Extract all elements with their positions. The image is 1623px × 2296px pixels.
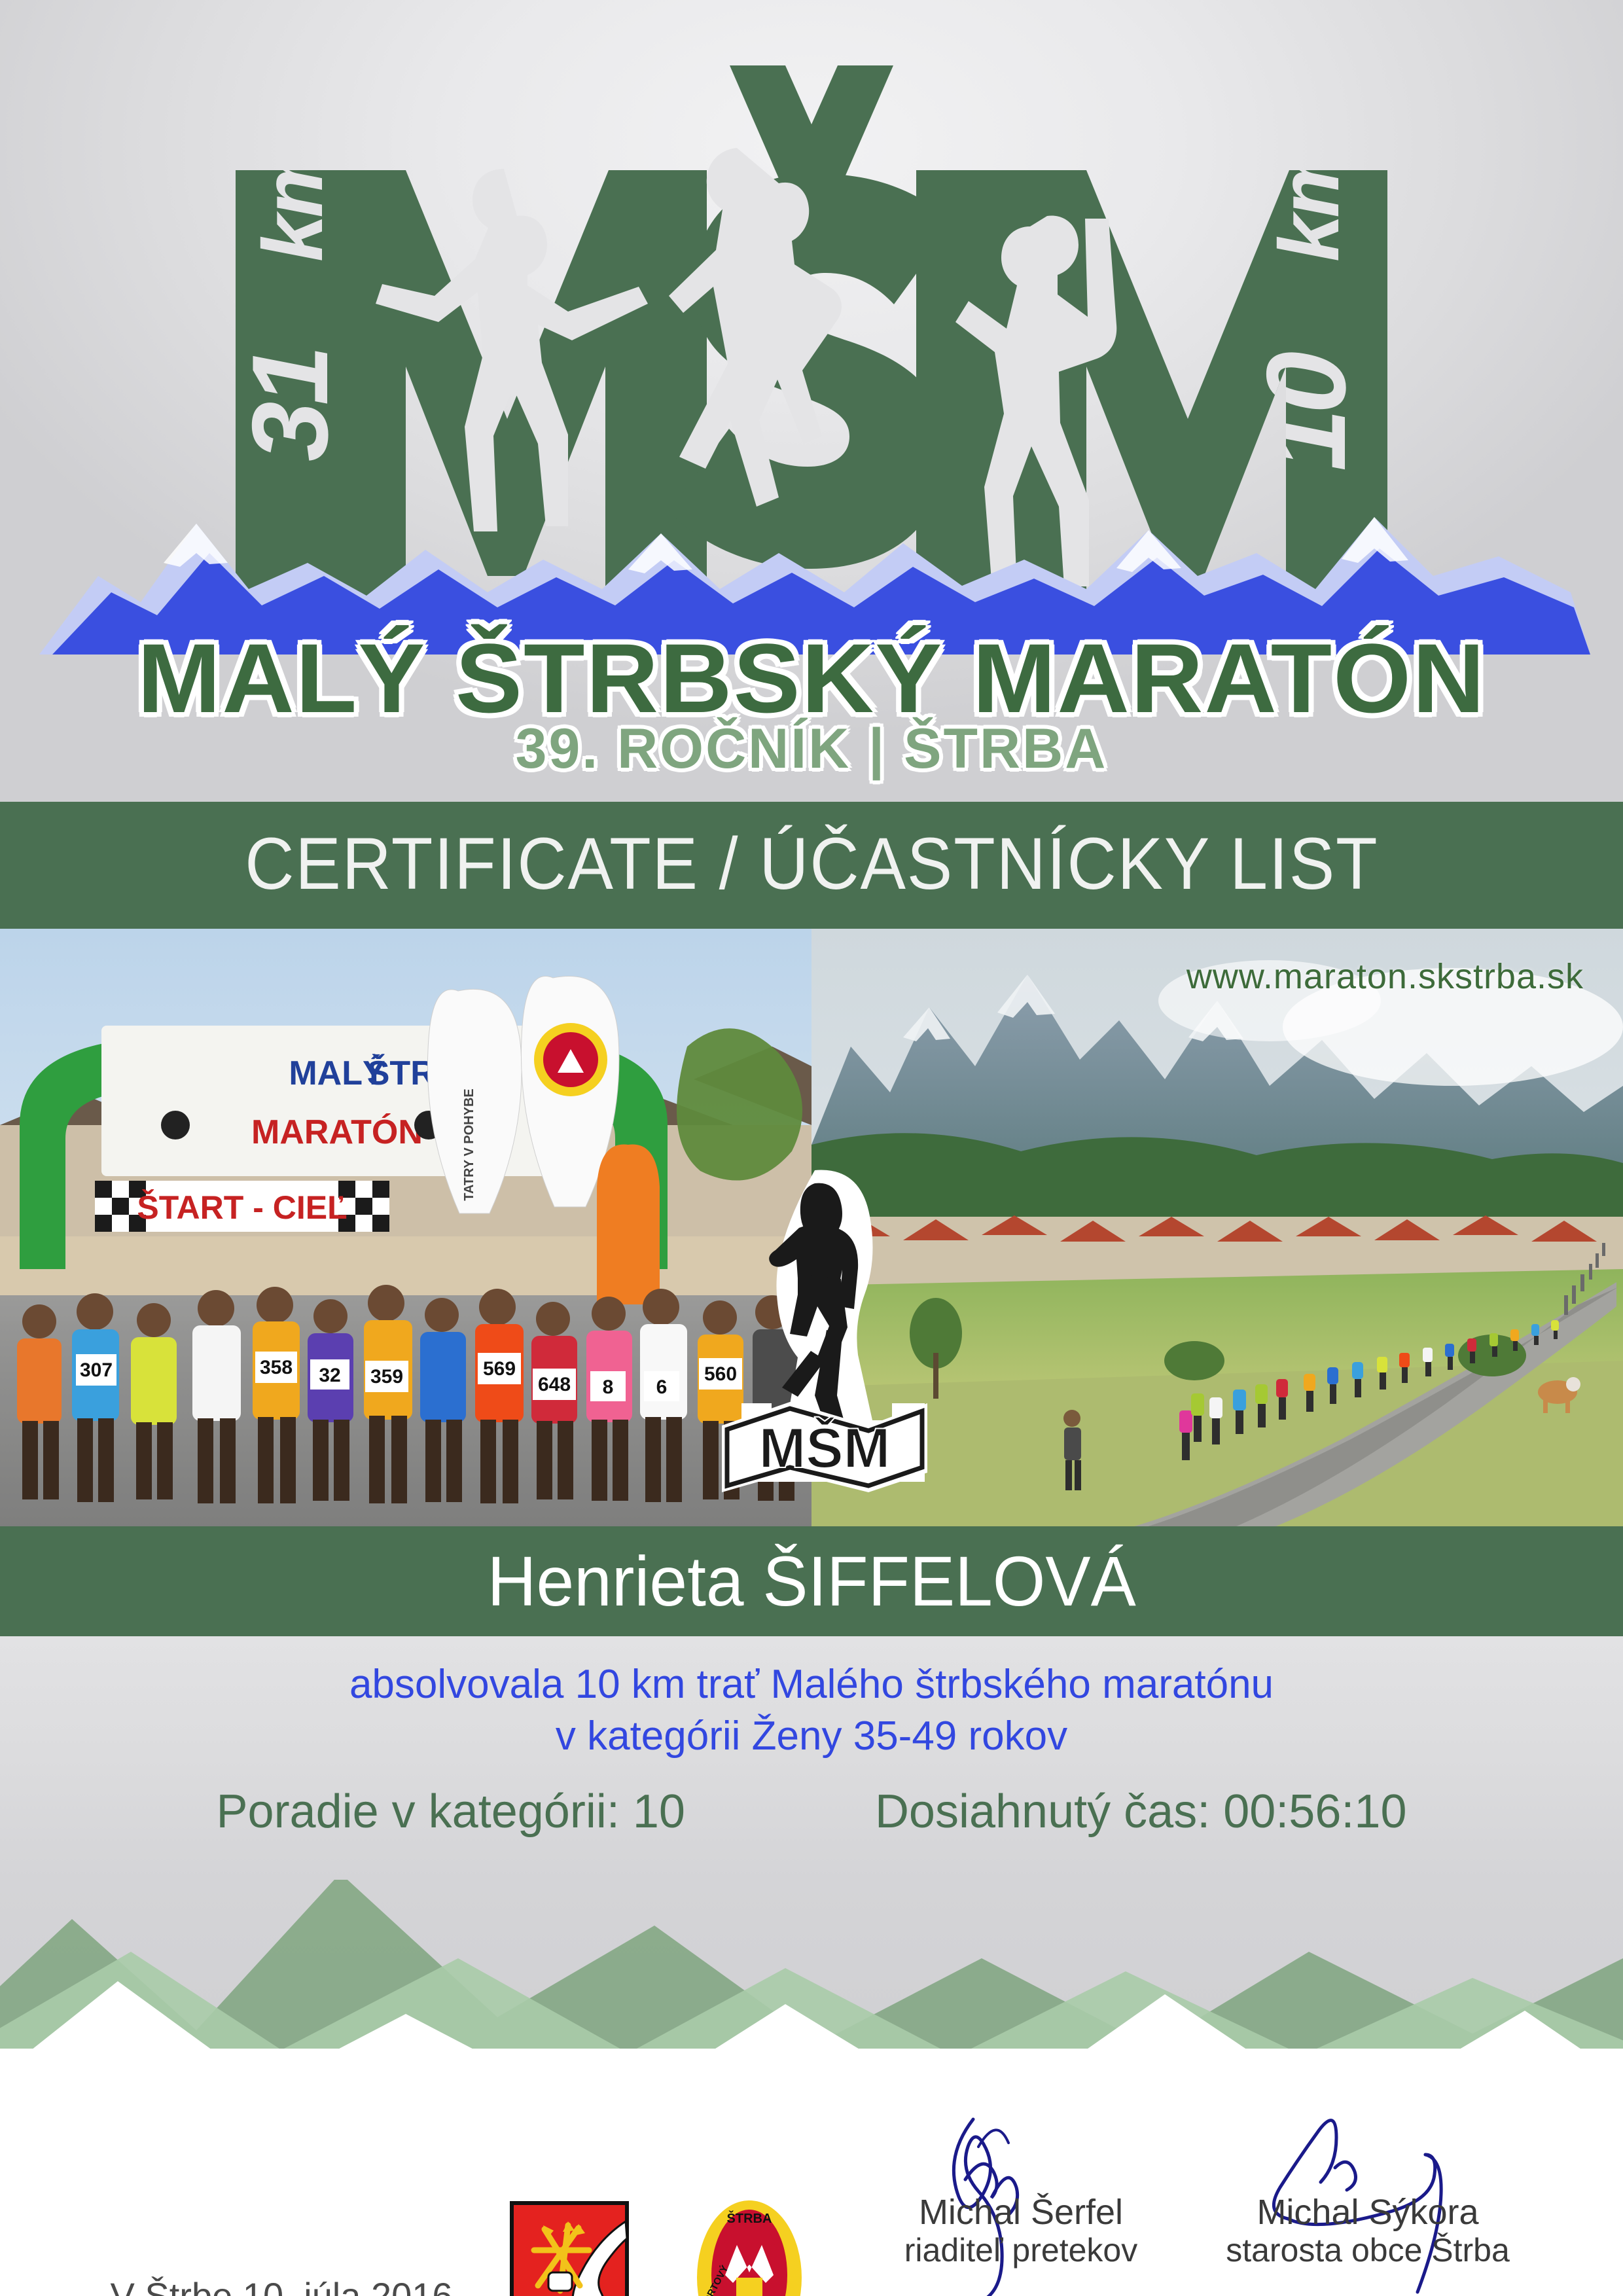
svg-text:10: 10 xyxy=(1243,352,1369,471)
municipality-crest: Obec Štrba xyxy=(497,2199,641,2296)
svg-text:648: 648 xyxy=(538,1374,571,1395)
arch-start-finish-text: ŠTART - CIEĽ xyxy=(137,1189,347,1226)
achievement-line-1: absolvovala 10 km trať Malého štrbského … xyxy=(0,1659,1623,1710)
photo-strip: MALÝ ŠTRBSKÝ MARATÓN xyxy=(0,926,1623,1532)
sks-strba-crest-icon: 1947 ŠTRBA Š K Š ŠPORTOVÝ KLUB xyxy=(674,2194,825,2296)
certificate-page: 31 km 10 km xyxy=(0,0,1623,2296)
signatory-name: Michal Sýkora xyxy=(1198,2193,1538,2232)
photo-start-line: MALÝ ŠTRBSKÝ MARATÓN xyxy=(0,929,811,1529)
signatory-name: Michal Šerfel xyxy=(851,2193,1191,2232)
finish-time: Dosiahnutý čas: 00:56:10 xyxy=(875,1788,1407,1835)
svg-text:569: 569 xyxy=(483,1358,516,1380)
svg-text:km: km xyxy=(245,145,340,262)
website-url[interactable]: www.maraton.skstrba.sk xyxy=(1186,956,1584,997)
club-top-text: ŠTRBA xyxy=(727,2210,772,2226)
letter-s-middle xyxy=(669,173,953,569)
certificate-title: CERTIFICATE / ÚČASTNÍCKY LIST xyxy=(245,827,1378,901)
svg-text:358: 358 xyxy=(260,1357,293,1378)
logo-subtitle: 39. ROČNÍK | ŠTRBA xyxy=(0,717,1623,781)
photo-tatras-road: www.maraton.skstrba.sk xyxy=(811,929,1623,1529)
arch-text-line2: MARATÓN xyxy=(251,1113,423,1151)
finish-time-value: 00:56:10 xyxy=(1223,1785,1406,1838)
msm-logo: 31 km 10 km xyxy=(0,0,1623,802)
svg-text:359: 359 xyxy=(370,1366,403,1388)
svg-text:31: 31 xyxy=(230,349,350,461)
category-rank-label: Poradie v kategórii: xyxy=(217,1785,620,1838)
signature-block-mayor: Michal Sýkora starosta obce Štrba xyxy=(1198,2193,1538,2269)
footer: V Štrbe 10. júla 2016 xyxy=(0,2049,1623,2296)
svg-text:560: 560 xyxy=(704,1363,737,1385)
signature-block-director: Michal Šerfel riaditeľ pretekov xyxy=(851,2193,1191,2269)
flag-text: TATRY V POHYBE xyxy=(462,1088,476,1201)
achievement-text: absolvovala 10 km trať Malého štrbského … xyxy=(0,1659,1623,1763)
photo-start-line-graphic: MALÝ ŠTRBSKÝ MARATÓN xyxy=(0,929,811,1529)
finish-time-label: Dosiahnutý čas: xyxy=(875,1785,1210,1838)
participant-name-banner: Henrieta ŠIFFELOVÁ xyxy=(0,1526,1623,1636)
category-rank-value: 10 xyxy=(633,1785,685,1838)
svg-text:6: 6 xyxy=(656,1376,668,1398)
svg-text:km: km xyxy=(1261,145,1357,262)
svg-text:32: 32 xyxy=(319,1365,340,1386)
logo-header: 31 km 10 km xyxy=(0,0,1623,802)
category-rank: Poradie v kategórii: 10 xyxy=(217,1788,685,1835)
photo-tatras-road-graphic xyxy=(811,929,1623,1529)
svg-text:307: 307 xyxy=(80,1359,113,1381)
achievement-line-2: v kategórii Ženy 35-49 rokov xyxy=(0,1710,1623,1762)
sports-club-crest: 1947 ŠTRBA Š K Š ŠPORTOVÝ KLUB xyxy=(674,2194,825,2296)
participant-name: Henrieta ŠIFFELOVÁ xyxy=(487,1546,1135,1617)
signatory-role: riaditeľ pretekov xyxy=(851,2232,1191,2269)
signatory-role: starosta obce Štrba xyxy=(1198,2232,1538,2269)
certificate-title-banner: CERTIFICATE / ÚČASTNÍCKY LIST xyxy=(0,802,1623,926)
obec-strba-crest-icon xyxy=(497,2199,641,2296)
result-row: Poradie v kategórii: 10 Dosiahnutý čas: … xyxy=(0,1788,1623,1835)
svg-text:8: 8 xyxy=(603,1376,614,1398)
result-section: absolvovala 10 km trať Malého štrbského … xyxy=(0,1636,1623,1898)
place-date: V Štrbe 10. júla 2016 xyxy=(72,2274,491,2296)
